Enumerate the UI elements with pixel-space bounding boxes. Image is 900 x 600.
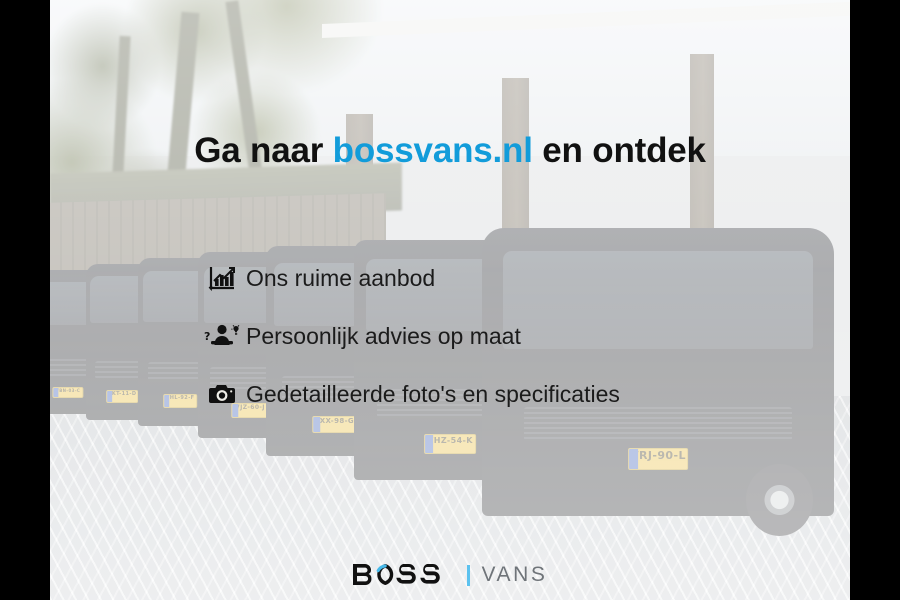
list-item: Ons ruime aanbod (198, 258, 620, 298)
logo-vans-wordmark: VANS (481, 563, 547, 587)
headline-brand: bossvans.nl (333, 131, 533, 170)
personal-advice-icon: ? (198, 316, 246, 356)
svg-text:?: ? (204, 330, 210, 343)
brand-logo: VANS (0, 562, 900, 588)
camera-icon (198, 374, 246, 414)
list-item: ? Persoonlijk advies op maat (198, 316, 620, 356)
list-item: Gedetailleerde foto's en specificaties (198, 374, 620, 414)
list-item-label: Gedetailleerde foto's en specificaties (246, 383, 620, 406)
headline-prefix: Ga naar (194, 131, 332, 170)
list-item-label: Ons ruime aanbod (246, 267, 435, 290)
list-item-label: Persoonlijk advies op maat (246, 325, 521, 348)
logo-boss-wordmark (352, 562, 456, 588)
bar-chart-icon (198, 258, 246, 298)
feature-list: Ons ruime aanbod ? Persoonlijk advies op… (198, 258, 620, 414)
headline-suffix: en ontdek (533, 131, 706, 170)
logo-divider (467, 565, 470, 586)
promo-banner: VBN-03-C VKT-11-D VHL-92-F VJZ-60-J VXX-… (0, 0, 900, 600)
page-title: Ga naar bossvans.nl en ontdek (0, 131, 900, 171)
